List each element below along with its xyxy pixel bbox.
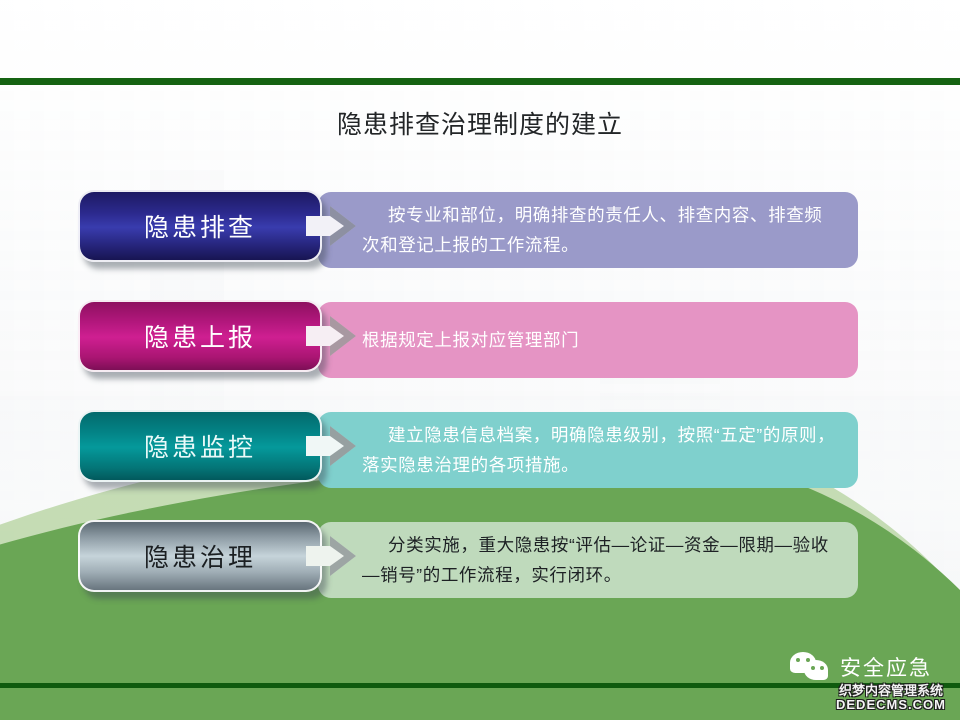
slide-canvas: 隐患排查治理制度的建立 按专业和部位，明确排查的责任人、排查内容、排查频次和登记… <box>0 0 960 720</box>
watermark-en-text: DEDECMS.COM <box>836 698 946 712</box>
process-label-4[interactable]: 隐患治理 <box>78 520 322 592</box>
process-row-2: 根据规定上报对应管理部门 隐患上报 <box>0 300 960 396</box>
wechat-account-name: 安全应急 <box>840 652 932 682</box>
process-label-text-2: 隐患上报 <box>144 318 256 354</box>
process-label-text-1: 隐患排查 <box>144 208 256 244</box>
process-label-1[interactable]: 隐患排查 <box>78 190 322 262</box>
footer-divider-line <box>0 683 960 688</box>
process-row-3: 建立隐患信息档案，明确隐患级别，按照“五定”的原则，落实隐患治理的各项措施。 隐… <box>0 410 960 506</box>
arrow-right-icon <box>304 314 358 358</box>
process-label-3[interactable]: 隐患监控 <box>78 410 322 482</box>
wechat-brand: 安全应急 <box>790 652 932 682</box>
arrow-right-icon <box>304 204 358 248</box>
process-label-text-3: 隐患监控 <box>144 428 256 464</box>
page-title: 隐患排查治理制度的建立 <box>0 105 960 141</box>
site-watermark: 织梦内容管理系统 DEDECMS.COM <box>836 684 946 711</box>
arrow-right-icon <box>304 424 358 468</box>
header-divider-line <box>0 78 960 85</box>
process-body-text-4: 分类实施，重大隐患按“评估—论证—资金—限期—验收—销号”的工作流程，实行闭环。 <box>362 530 838 590</box>
process-row-1: 按专业和部位，明确排查的责任人、排查内容、排查频次和登记上报的工作流程。 隐患排… <box>0 190 960 286</box>
process-body-text-2: 根据规定上报对应管理部门 <box>362 325 579 355</box>
process-body-1: 按专业和部位，明确排查的责任人、排查内容、排查频次和登记上报的工作流程。 <box>318 192 858 268</box>
process-body-4: 分类实施，重大隐患按“评估—论证—资金—限期—验收—销号”的工作流程，实行闭环。 <box>318 522 858 598</box>
process-body-2: 根据规定上报对应管理部门 <box>318 302 858 378</box>
wechat-icon <box>790 652 832 682</box>
process-label-text-4: 隐患治理 <box>144 538 256 574</box>
process-body-text-3: 建立隐患信息档案，明确隐患级别，按照“五定”的原则，落实隐患治理的各项措施。 <box>362 420 838 480</box>
process-body-text-1: 按专业和部位，明确排查的责任人、排查内容、排查频次和登记上报的工作流程。 <box>362 200 838 260</box>
process-label-2[interactable]: 隐患上报 <box>78 300 322 372</box>
process-row-4: 分类实施，重大隐患按“评估—论证—资金—限期—验收—销号”的工作流程，实行闭环。… <box>0 520 960 616</box>
arrow-right-icon <box>304 534 358 578</box>
watermark-cn-text: 织梦内容管理系统 <box>836 684 946 698</box>
process-body-3: 建立隐患信息档案，明确隐患级别，按照“五定”的原则，落实隐患治理的各项措施。 <box>318 412 858 488</box>
